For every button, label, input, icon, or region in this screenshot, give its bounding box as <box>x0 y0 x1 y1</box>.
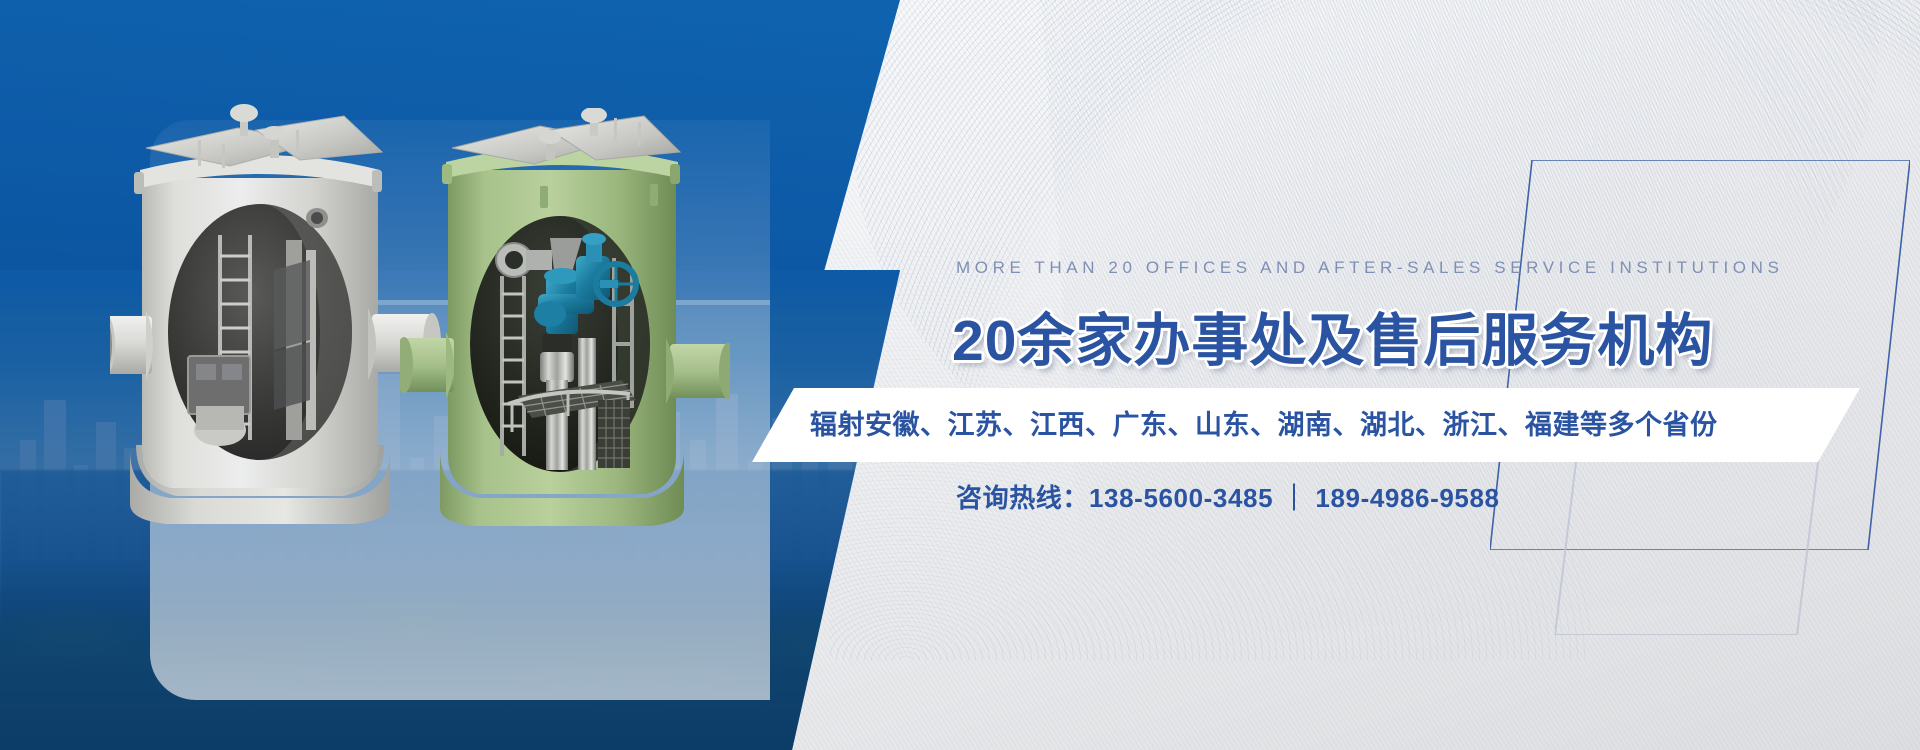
page-title: 20余家办事处及售后服务机构 <box>952 295 1713 377</box>
green-pump-station-image <box>400 108 730 526</box>
gray-pump-station-image <box>110 100 450 530</box>
hotline-text: 咨询热线：138-5600-3485 ｜ 189-4986-9588 <box>956 478 1500 515</box>
promo-banner: MORE THAN 20 OFFICES AND AFTER-SALES SER… <box>0 0 1920 750</box>
coverage-text: 辐射安徽、江苏、江西、广东、山东、湖南、湖北、浙江、福建等多个省份 <box>810 388 1718 462</box>
eyebrow-text: MORE THAN 20 OFFICES AND AFTER-SALES SER… <box>956 258 1783 278</box>
